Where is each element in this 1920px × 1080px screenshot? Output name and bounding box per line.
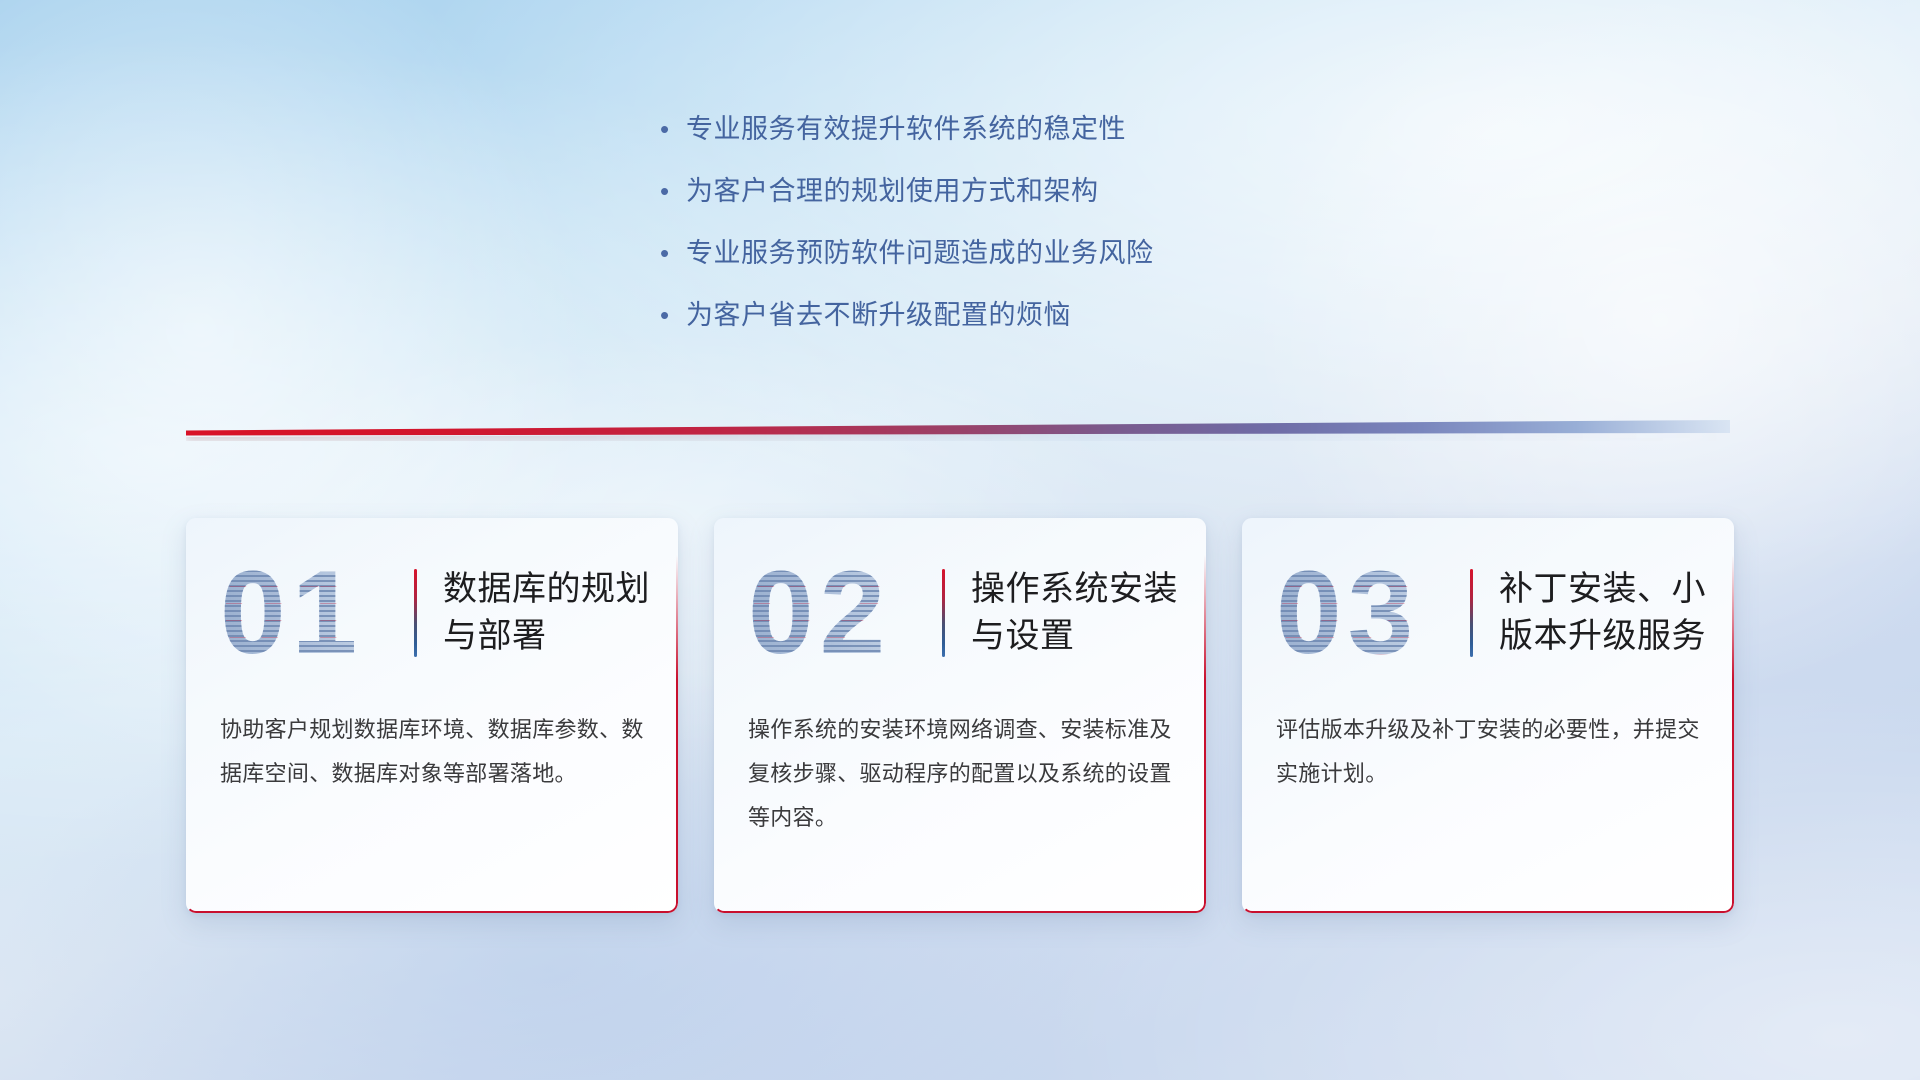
bullet-dot-icon: •	[660, 108, 686, 150]
bullet-text: 专业服务有效提升软件系统的稳定性	[686, 108, 1126, 150]
card-header: 02 操作系统安装与设置	[714, 518, 1206, 708]
card-title-divider	[414, 569, 417, 657]
card-title-divider	[942, 569, 945, 657]
service-card-group: 01 数据库的规划与部署 协助客户规划数据库环境、数据库参数、数据库空间、数据库…	[186, 518, 1734, 913]
card-title-divider	[1470, 569, 1473, 657]
card-body-text: 评估版本升级及补丁安装的必要性，并提交实施计划。	[1242, 708, 1734, 796]
card-title: 补丁安装、小版本升级服务	[1499, 566, 1734, 660]
list-item: • 专业服务预防软件问题造成的业务风险	[660, 232, 1420, 274]
bullet-dot-icon: •	[660, 170, 686, 212]
card-number-03: 03	[1276, 554, 1466, 672]
section-divider	[186, 420, 1730, 438]
bullet-text: 为客户省去不断升级配置的烦恼	[686, 294, 1071, 336]
card-number-02: 02	[748, 554, 938, 672]
service-card-02[interactable]: 02 操作系统安装与设置 操作系统的安装环境网络调查、安装标准及复核步骤、驱动程…	[714, 518, 1206, 913]
card-header: 01 数据库的规划与部署	[186, 518, 678, 708]
list-item: • 专业服务有效提升软件系统的稳定性	[660, 108, 1420, 150]
card-body-text: 协助客户规划数据库环境、数据库参数、数据库空间、数据库对象等部署落地。	[186, 708, 678, 796]
bullet-text: 专业服务预防软件问题造成的业务风险	[686, 232, 1154, 274]
list-item: • 为客户合理的规划使用方式和架构	[660, 170, 1420, 212]
service-card-03[interactable]: 03 补丁安装、小版本升级服务 评估版本升级及补丁安装的必要性，并提交实施计划。	[1242, 518, 1734, 913]
list-item: • 为客户省去不断升级配置的烦恼	[660, 294, 1420, 336]
bullet-text: 为客户合理的规划使用方式和架构	[686, 170, 1099, 212]
service-card-01[interactable]: 01 数据库的规划与部署 协助客户规划数据库环境、数据库参数、数据库空间、数据库…	[186, 518, 678, 913]
benefits-bullet-list: • 专业服务有效提升软件系统的稳定性 • 为客户合理的规划使用方式和架构 • 专…	[660, 108, 1420, 356]
card-title: 操作系统安装与设置	[971, 566, 1206, 660]
bullet-dot-icon: •	[660, 294, 686, 336]
card-header: 03 补丁安装、小版本升级服务	[1242, 518, 1734, 708]
card-title: 数据库的规划与部署	[443, 566, 678, 660]
card-number-01: 01	[220, 554, 410, 672]
slide-canvas: • 专业服务有效提升软件系统的稳定性 • 为客户合理的规划使用方式和架构 • 专…	[0, 0, 1920, 1080]
bullet-dot-icon: •	[660, 232, 686, 274]
card-body-text: 操作系统的安装环境网络调查、安装标准及复核步骤、驱动程序的配置以及系统的设置等内…	[714, 708, 1206, 840]
